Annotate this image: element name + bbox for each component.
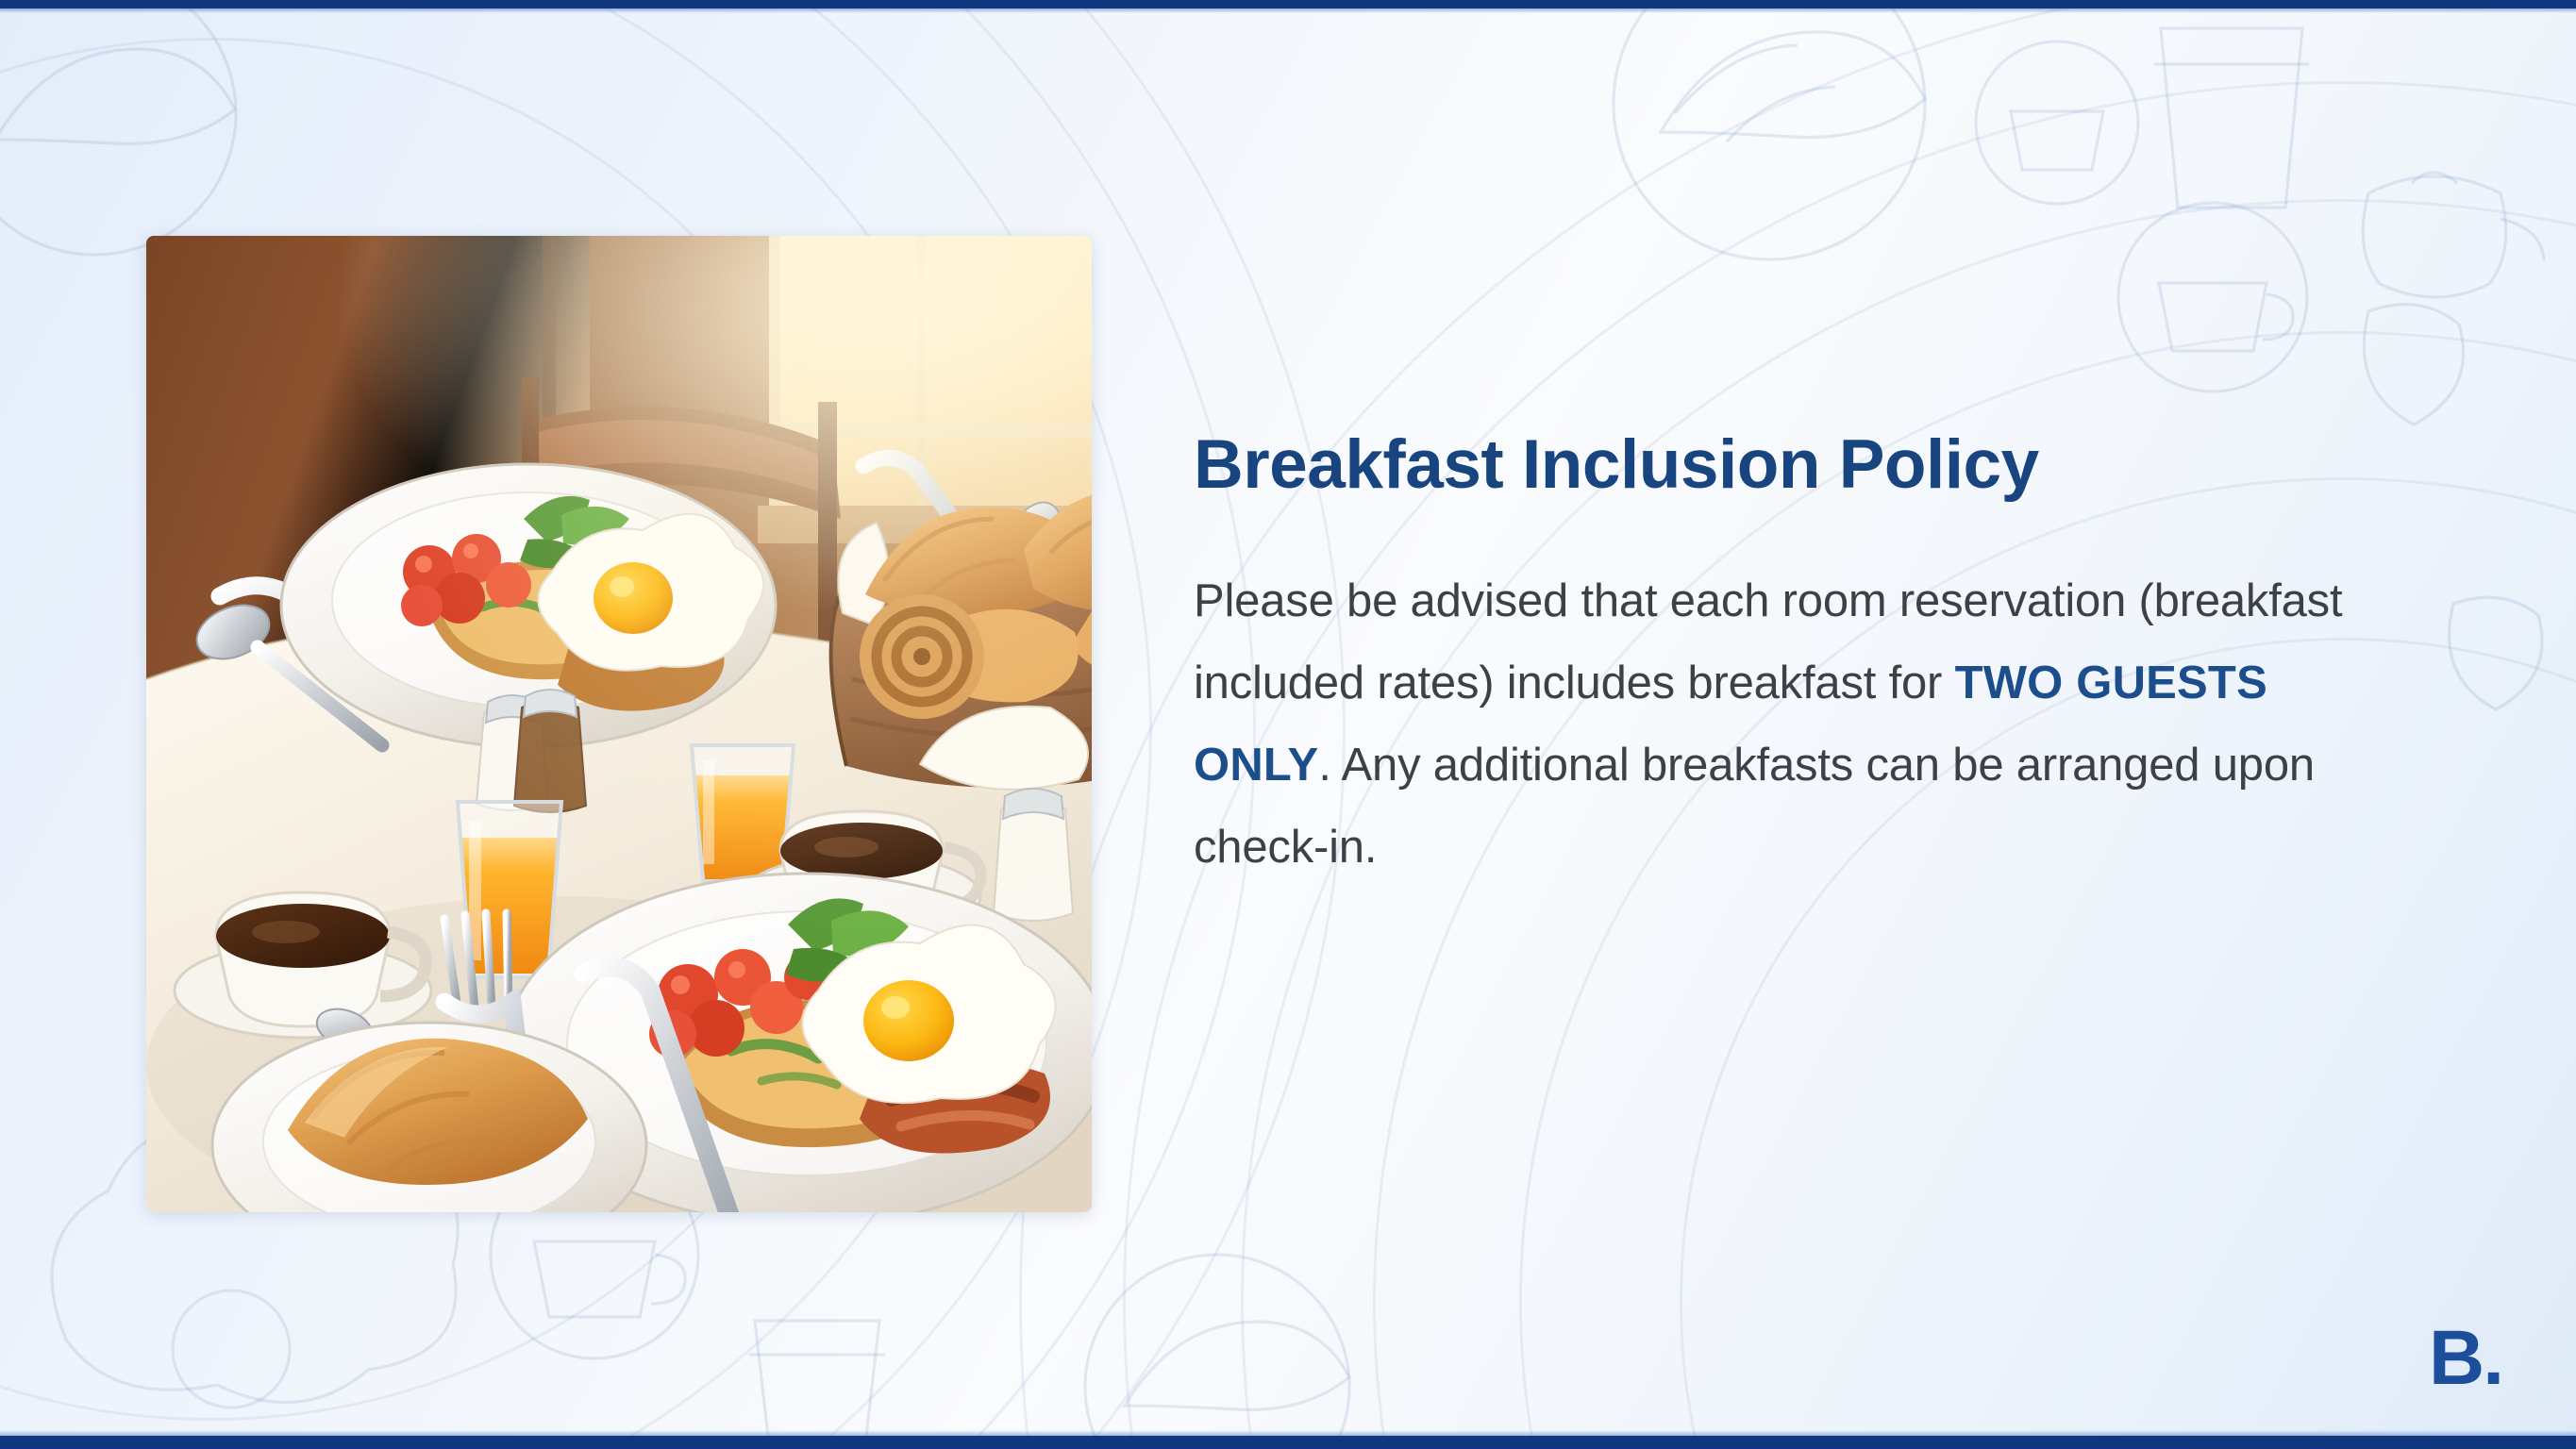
croissant-icon [0, 0, 236, 255]
croissant-icon [1085, 1255, 1349, 1449]
breakfast-photo [146, 236, 1092, 1212]
teapot-icon [2363, 173, 2544, 297]
breakfast-illustration [146, 236, 1092, 1212]
strawberry-icon [2450, 597, 2542, 709]
body-text-part2: . Any additional breakfasts can be arran… [1194, 740, 2315, 873]
coffee-cup-icon [1976, 42, 2138, 204]
strawberry-icon [2364, 305, 2463, 425]
policy-body-text: Please be advised that each room reserva… [1194, 560, 2411, 889]
coffee-cup-icon [2118, 203, 2307, 391]
slide-canvas: Breakfast Inclusion Policy Please be adv… [0, 0, 2576, 1449]
croissant-icon [1614, 0, 1925, 259]
top-accent-glow [0, 8, 2576, 13]
page-title: Breakfast Inclusion Policy [1194, 429, 2420, 502]
top-accent-bar [0, 0, 2576, 8]
juice-glass-icon [2154, 28, 2309, 208]
bottom-accent-bar [0, 1436, 2576, 1449]
text-column: Breakfast Inclusion Policy Please be adv… [1194, 429, 2420, 889]
brand-logo: B. [2429, 1320, 2502, 1397]
